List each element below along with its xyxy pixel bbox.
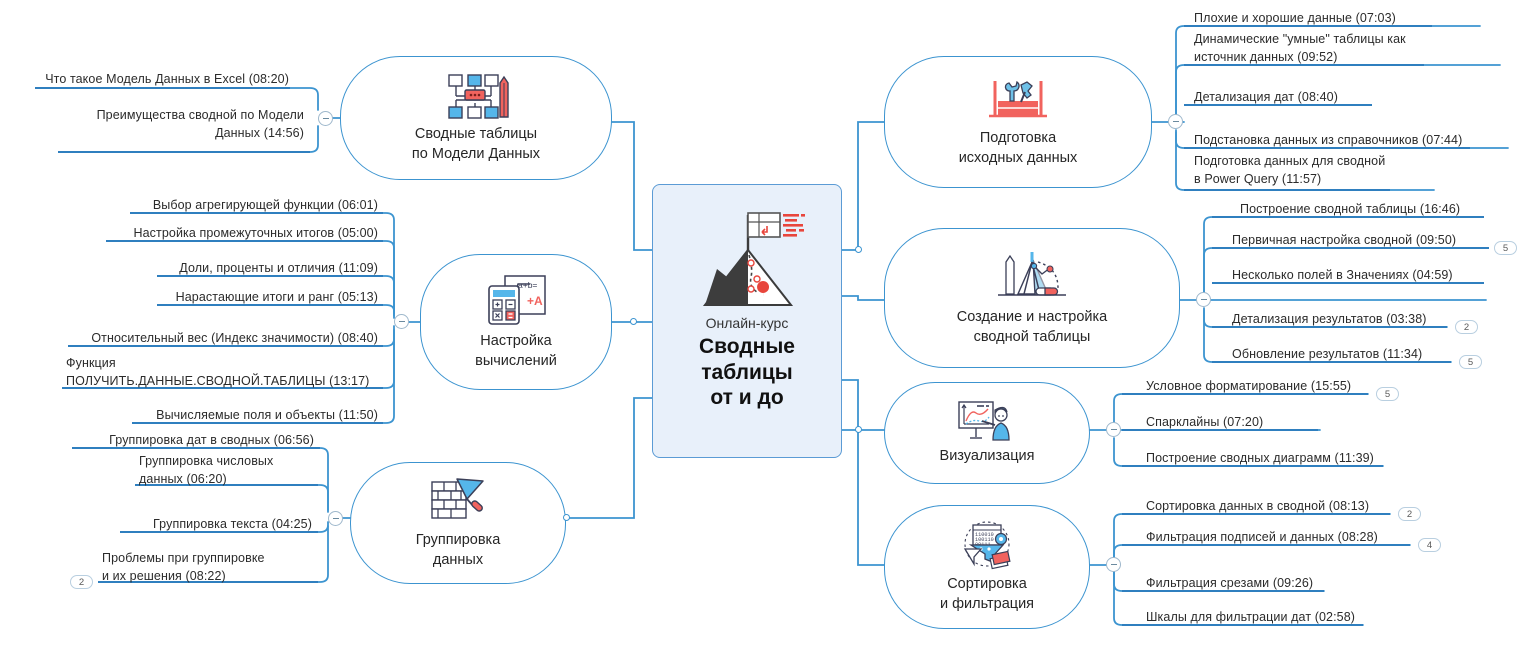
brick-wall-trowel-icon [427, 475, 489, 527]
count-badge[interactable]: 5 [1494, 241, 1517, 255]
collapse-toggle-visualization[interactable] [1106, 422, 1121, 437]
leaf-topic[interactable]: Подстановка данных из справочников (07:4… [1190, 131, 1490, 151]
leaf-topic[interactable]: Выбор агрегирующей функции (06:01) [130, 196, 382, 216]
presenter-chart-icon [955, 399, 1019, 443]
branch-node-data-model[interactable]: Сводные таблицы по Модели Данных [340, 56, 612, 180]
leaf-topic[interactable]: Что такое Модель Данных в Excel (08:20) [35, 70, 293, 90]
leaf-topic[interactable]: Группировка текста (04:25) [120, 515, 316, 535]
leaf-topic[interactable]: Условное форматирование (15:55) [1142, 377, 1382, 397]
center-kicker: Онлайн-курс [706, 315, 789, 331]
mindmap-canvas: Онлайн-курс Сводные таблицы от и до Свод… [0, 0, 1536, 664]
center-title: Сводные таблицы от и до [699, 334, 795, 411]
count-badge[interactable]: 2 [1398, 507, 1421, 521]
branch-node-source-data[interactable]: Подготовка исходных данных [884, 56, 1152, 188]
leaf-topic[interactable]: Построение сводных диаграмм (11:39) [1142, 449, 1392, 469]
svg-text:a+b=: a+b= [518, 280, 537, 290]
leaf-topic[interactable]: Преимущества сводной по Модели Данных (1… [58, 106, 308, 144]
leaf-topic[interactable]: Фильтрация срезами (09:26) [1142, 574, 1342, 594]
leaf-topic[interactable]: Относительный вес (Индекс значимости) (0… [68, 329, 382, 349]
branch-dot-calculations[interactable] [630, 318, 637, 325]
collapse-toggle-sort-filter[interactable] [1106, 557, 1121, 572]
collapse-toggle-calculations[interactable] [394, 314, 409, 329]
svg-text:+A: +A [527, 294, 543, 308]
count-badge[interactable]: 4 [1418, 538, 1441, 552]
leaf-topic[interactable]: Нарастающие итоги и ранг (05:13) [157, 288, 382, 308]
mountain-flag-icon [687, 195, 807, 313]
collapse-toggle-build-pivot[interactable] [1196, 292, 1211, 307]
leaf-topic[interactable]: Настройка промежуточных итогов (05:00) [106, 224, 382, 244]
count-badge[interactable]: 5 [1459, 355, 1482, 369]
branch-label: Создание и настройка сводной таблицы [957, 308, 1107, 347]
leaf-topic[interactable]: Детализация результатов (03:38) [1228, 310, 1458, 330]
branch-dot-grouping[interactable] [563, 514, 570, 521]
branch-label: Подготовка исходных данных [959, 129, 1078, 168]
leaf-topic[interactable]: Плохие и хорошие данные (07:03) [1190, 9, 1450, 29]
branch-label: Визуализация [940, 447, 1035, 467]
branch-node-sort-filter[interactable]: 11001010011000111 Сортировка и фильтраци… [884, 505, 1090, 629]
compass-drafting-icon [988, 248, 1076, 304]
calculator-formula-icon: a+b= +A [483, 272, 549, 328]
data-model-pencil-icon [439, 71, 513, 121]
leaf-topic[interactable]: Сортировка данных в сводной (08:13) [1142, 497, 1396, 517]
leaf-topic[interactable]: Группировка числовых данных (06:20) [135, 452, 317, 490]
leaf-topic[interactable]: Динамические "умные" таблицы как источни… [1190, 30, 1440, 68]
leaf-topic[interactable]: Построение сводной таблицы (16:46) [1236, 200, 1496, 220]
branch-node-grouping[interactable]: Группировка данных [350, 462, 566, 584]
leaf-topic[interactable]: Шкалы для фильтрации дат (02:58) [1142, 608, 1372, 628]
branch-dot-visualization[interactable] [855, 426, 862, 433]
branch-label: Группировка данных [416, 531, 501, 570]
leaf-topic[interactable]: Детализация дат (08:40) [1190, 88, 1420, 108]
collapse-toggle-source-data[interactable] [1168, 114, 1183, 129]
collapse-toggle-data-model[interactable] [318, 111, 333, 126]
count-badge[interactable]: 2 [1455, 320, 1478, 334]
count-badge[interactable]: 5 [1376, 387, 1399, 401]
count-badge[interactable]: 2 [70, 575, 93, 589]
branch-label: Сортировка и фильтрация [940, 575, 1034, 614]
branch-label: Сводные таблицы по Модели Данных [412, 125, 540, 164]
branch-node-calculations[interactable]: a+b= +A Настройка вычислений [420, 254, 612, 390]
toolbox-icon [985, 75, 1051, 125]
leaf-topic[interactable]: Обновление результатов (11:34) [1228, 345, 1458, 365]
leaf-topic[interactable]: Первичная настройка сводной (09:50) [1228, 231, 1494, 251]
leaf-topic[interactable]: Группировка дат в сводных (06:56) [72, 431, 318, 451]
branch-dot-source-data[interactable] [855, 246, 862, 253]
leaf-topic[interactable]: Доли, проценты и отличия (11:09) [157, 259, 382, 279]
leaf-topic[interactable]: Спарклайны (07:20) [1142, 413, 1342, 433]
branch-node-visualization[interactable]: Визуализация [884, 382, 1090, 484]
leaf-topic[interactable]: Подготовка данных для сводной в Power Qu… [1190, 152, 1450, 190]
collapse-toggle-grouping[interactable] [328, 511, 343, 526]
branch-node-build-pivot[interactable]: Создание и настройка сводной таблицы [884, 228, 1180, 368]
leaf-topic[interactable]: Функция ПОЛУЧИТЬ.ДАННЫЕ.СВОДНОЙ.ТАБЛИЦЫ … [62, 354, 382, 392]
leaf-topic[interactable]: Проблемы при группировке и их решения (0… [98, 549, 316, 587]
leaf-topic[interactable]: Несколько полей в Значениях (04:59) [1228, 266, 1490, 286]
leaf-topic[interactable]: Вычисляемые поля и объекты (11:50) [132, 406, 382, 426]
branch-label: Настройка вычислений [475, 332, 557, 371]
funnel-data-icon: 11001010011000111 [955, 519, 1019, 571]
central-topic-node[interactable]: Онлайн-курс Сводные таблицы от и до [652, 184, 842, 458]
leaf-topic[interactable]: Фильтрация подписей и данных (08:28) [1142, 528, 1412, 548]
